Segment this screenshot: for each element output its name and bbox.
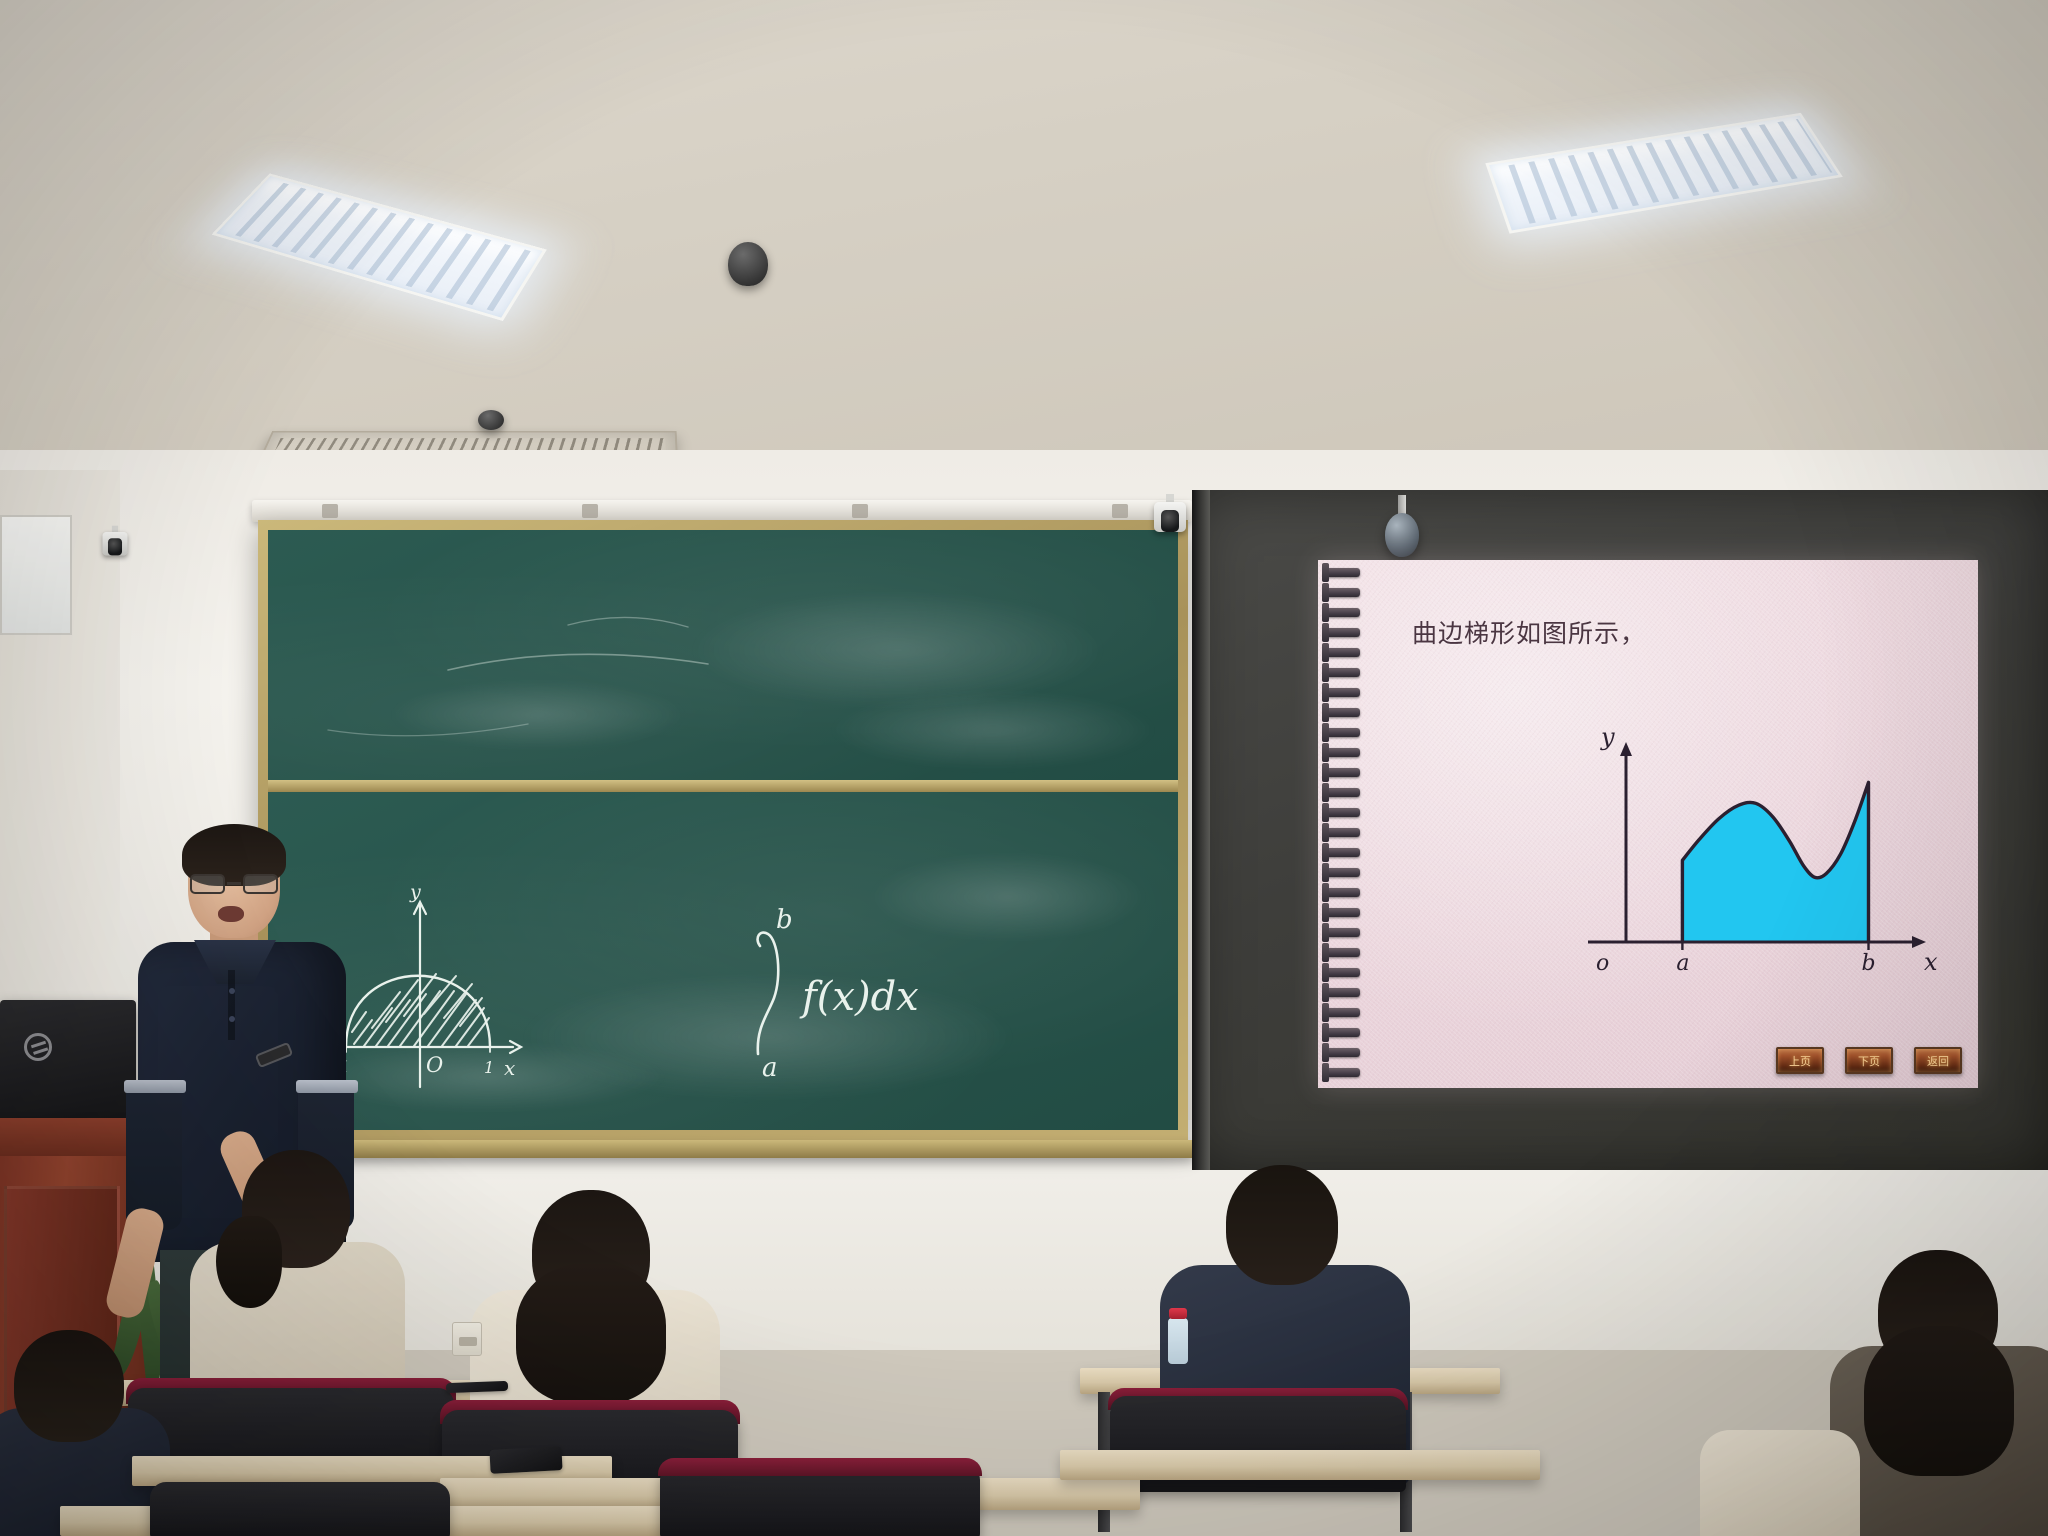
spiral-ring <box>1326 988 1360 997</box>
chalkboard-lower-panel: O x y -1 1 b a f(x)dx <box>268 792 1178 1130</box>
chalkboard: O x y -1 1 b a f(x)dx <box>258 520 1188 1140</box>
spiral-ring <box>1326 668 1360 677</box>
hp-logo-icon <box>24 1033 52 1061</box>
chalkboard-divider <box>268 780 1178 792</box>
spiral-ring <box>1326 1028 1360 1037</box>
lecturer-mouth <box>218 906 244 922</box>
water-bottle <box>1168 1318 1188 1364</box>
chalk-label-origin: O <box>426 1053 443 1077</box>
spiral-ring <box>1326 768 1360 777</box>
projected-slide: 曲边梯形如图所示， y x o a b 上页 下页 <box>1318 560 1978 1088</box>
chart-label-origin: o <box>1596 951 1609 976</box>
chart-label-x: x <box>1924 948 1938 976</box>
spiral-ring <box>1326 828 1360 837</box>
spiral-ring <box>1326 628 1360 637</box>
chalk-label-x: x <box>504 1056 515 1080</box>
spiral-binding <box>1324 560 1364 1088</box>
slide-heading: 曲边梯形如图所示， <box>1412 614 1646 650</box>
chalk-integral-upper: b <box>776 905 793 935</box>
spiral-ring <box>1326 688 1360 697</box>
chalk-formula-definite-integral: b a f(x)dx <box>758 905 919 1083</box>
chart-label-a: a <box>1676 951 1689 976</box>
spiral-ring <box>1326 888 1360 897</box>
spiral-ring <box>1326 928 1360 937</box>
spiral-ring <box>1326 948 1360 957</box>
chalkboard-upper-smudges <box>268 530 1178 780</box>
spiral-ring <box>1326 588 1360 597</box>
spiral-ring <box>1326 568 1360 577</box>
chart-label-b: b <box>1862 951 1876 976</box>
wall-camera-left <box>99 526 130 567</box>
ceiling <box>0 0 2048 470</box>
spiral-ring <box>1326 1008 1360 1017</box>
chalk-integrand: f(x)dx <box>799 974 919 1020</box>
student-front-left-ponytail <box>216 1216 282 1308</box>
student-far-right <box>1830 1250 2048 1536</box>
chair-bottom-left <box>150 1482 450 1536</box>
fluorescent-troffer-right <box>1485 113 1843 234</box>
chalk-integral-lower: a <box>762 1053 778 1083</box>
chalkboard-writing: O x y -1 1 b a f(x)dx <box>268 792 1178 1130</box>
ceiling-camera-right <box>1385 495 1419 557</box>
classroom-scene: O x y -1 1 b a f(x)dx <box>0 0 2048 1536</box>
spiral-ring <box>1326 708 1360 717</box>
spiral-ring <box>1326 848 1360 857</box>
chart-x-arrow <box>1912 936 1926 948</box>
spiral-ring <box>1326 748 1360 757</box>
spiral-ring <box>1326 608 1360 617</box>
fluorescent-troffer-left <box>212 173 547 321</box>
student-mid-left-hair-fall <box>516 1264 666 1404</box>
student-right-sleeve-body <box>1700 1430 1860 1536</box>
spiral-ring <box>1326 648 1360 657</box>
wall-camera-center <box>1150 494 1190 546</box>
lecturer-arm-left <box>126 1080 182 1230</box>
desk-front-right <box>1060 1450 1540 1480</box>
lecturer-sleeve-left <box>124 1080 186 1093</box>
spiral-ring <box>1326 788 1360 797</box>
chalkboard-top-rail <box>252 500 1192 522</box>
water-bottle-cap <box>1169 1308 1187 1319</box>
chalkboard-upper-panel <box>268 530 1178 780</box>
spiral-ring <box>1326 808 1360 817</box>
wall-power-socket <box>452 1322 482 1356</box>
window-left <box>0 515 72 635</box>
smoke-detector <box>728 242 768 286</box>
spiral-ring <box>1326 728 1360 737</box>
chart-label-y: y <box>1600 730 1615 751</box>
slide-nav-buttons[interactable]: 上页 下页 返回 <box>1776 1047 1962 1074</box>
nav-return-button[interactable]: 返回 <box>1914 1047 1962 1074</box>
chalk-label-y: y <box>409 881 421 903</box>
spiral-ring <box>1326 968 1360 977</box>
glasses-icon <box>188 874 280 894</box>
chalk-label-one: 1 <box>484 1058 494 1077</box>
lecturer-placket <box>228 970 235 1040</box>
student-bottom-left-head <box>14 1330 124 1442</box>
smartphone-on-desk <box>489 1446 562 1474</box>
student-far-right-hair-fall <box>1864 1326 2014 1476</box>
spiral-ring <box>1326 1068 1360 1077</box>
chart-y-arrow <box>1620 742 1632 756</box>
student-mid-right-head <box>1226 1165 1338 1285</box>
dark-panel-edge <box>1192 490 1210 1170</box>
hp-monitor <box>0 1000 136 1122</box>
curvilinear-trapezoid-chart: y x o a b <box>1548 730 1948 1000</box>
nav-next-page-button[interactable]: 下页 <box>1845 1047 1893 1074</box>
chair-trim-4 <box>658 1458 982 1476</box>
student-right-sleeve <box>1700 1430 1860 1536</box>
spiral-ring <box>1326 908 1360 917</box>
nav-prev-page-button[interactable]: 上页 <box>1776 1047 1824 1074</box>
sprinkler-head <box>478 410 504 430</box>
chart-area-fill <box>1682 782 1868 942</box>
spiral-ring <box>1326 868 1360 877</box>
lecturer-sleeve-right <box>296 1080 358 1093</box>
spiral-ring <box>1326 1048 1360 1057</box>
